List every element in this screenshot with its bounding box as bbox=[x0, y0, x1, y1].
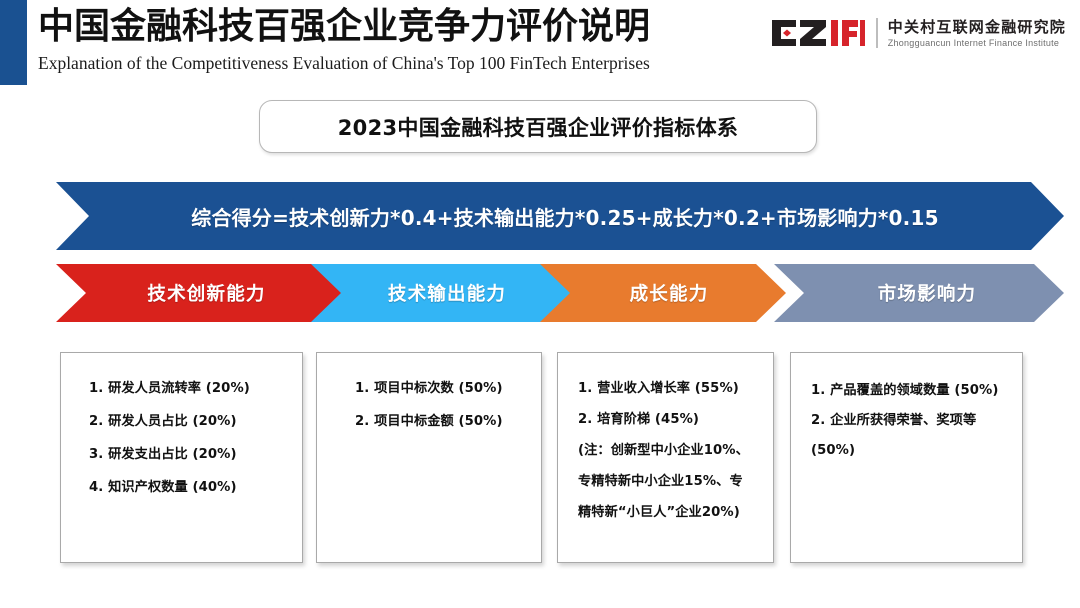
indicator-list-0: 1. 研发人员流转率 (20%)2. 研发人员占比 (20%)3. 研发支出占比… bbox=[73, 381, 290, 496]
czifi-logo-icon bbox=[770, 18, 866, 48]
indicator-item: 4. 知识产权数量 (40%) bbox=[89, 480, 290, 496]
indicator-item: 精特新“小巨人”企业20%) bbox=[578, 505, 761, 521]
indicator-card-market-influence: 1. 产品覆盖的领域数量 (50%)2. 企业所获得荣誉、奖项等(50%) bbox=[790, 352, 1023, 563]
indicator-card-row: 1. 研发人员流转率 (20%)2. 研发人员占比 (20%)3. 研发支出占比… bbox=[0, 352, 1080, 568]
index-system-title-box: 2023中国金融科技百强企业评价指标体系 bbox=[259, 100, 817, 153]
indicator-list-2: 1. 营业收入增长率 (55%)2. 培育阶梯 (45%)(注：创新型中小企业1… bbox=[570, 381, 761, 521]
indicator-item: 1. 研发人员流转率 (20%) bbox=[89, 381, 290, 397]
indicator-item: 1. 产品覆盖的领域数量 (50%) bbox=[811, 381, 1010, 401]
formula-chevron-shape: 综合得分=技术创新力*0.4+技术输出能力*0.25+成长力*0.2+市场影响力… bbox=[56, 182, 1064, 250]
arrow-label-0: 技术创新能力 bbox=[131, 280, 265, 306]
logo-name-en: Zhongguancun Internet Finance Institute bbox=[888, 37, 1066, 49]
indicator-item: (50%) bbox=[811, 441, 1010, 461]
arrow-technology-innovation: 技术创新能力 bbox=[56, 264, 341, 322]
indicator-item: 2. 企业所获得荣誉、奖项等 bbox=[811, 411, 1010, 431]
arrow-label-1: 技术输出能力 bbox=[372, 280, 506, 306]
indicator-item: 2. 培育阶梯 (45%) bbox=[578, 412, 761, 428]
institute-logo: 中关村互联网金融研究院 Zhongguancun Internet Financ… bbox=[770, 12, 1066, 54]
formula-text: 综合得分=技术创新力*0.4+技术输出能力*0.25+成长力*0.2+市场影响力… bbox=[181, 202, 938, 231]
slide-header: 中国金融科技百强企业竞争力评价说明 Explanation of the Com… bbox=[0, 0, 1080, 88]
indicator-card-technology-output: 1. 项目中标次数 (50%)2. 项目中标金额 (50%) bbox=[316, 352, 542, 563]
logo-name-cn: 中关村互联网金融研究院 bbox=[888, 18, 1066, 36]
indicator-item: (注：创新型中小企业10%、 bbox=[578, 443, 761, 459]
logo-divider bbox=[876, 18, 878, 48]
index-system-title: 2023中国金融科技百强企业评价指标体系 bbox=[338, 112, 738, 142]
logo-wordmark: 中关村互联网金融研究院 Zhongguancun Internet Financ… bbox=[888, 18, 1066, 49]
header-accent-bar bbox=[0, 0, 27, 85]
indicator-item: 1. 项目中标次数 (50%) bbox=[355, 381, 529, 397]
indicator-item: 专精特新中小企业15%、专 bbox=[578, 474, 761, 490]
slide-root: 中国金融科技百强企业竞争力评价说明 Explanation of the Com… bbox=[0, 0, 1080, 608]
arrow-label-3: 市场影响力 bbox=[862, 280, 977, 306]
page-subtitle-english: Explanation of the Competitiveness Evalu… bbox=[38, 51, 650, 75]
page-title: 中国金融科技百强企业竞争力评价说明 bbox=[38, 4, 650, 50]
arrow-growth-capability: 成长能力 bbox=[536, 264, 786, 322]
indicator-item: 3. 研发支出占比 (20%) bbox=[89, 447, 290, 463]
dimension-arrow-row: 技术创新能力 技术输出能力 成长能力 市场影响力 bbox=[56, 264, 1064, 322]
indicator-card-growth-capability: 1. 营业收入增长率 (55%)2. 培育阶梯 (45%)(注：创新型中小企业1… bbox=[557, 352, 774, 563]
arrow-market-influence: 市场影响力 bbox=[774, 264, 1064, 322]
score-formula-banner: 综合得分=技术创新力*0.4+技术输出能力*0.25+成长力*0.2+市场影响力… bbox=[56, 182, 1064, 250]
arrow-technology-output: 技术输出能力 bbox=[308, 264, 570, 322]
indicator-item: 1. 营业收入增长率 (55%) bbox=[578, 381, 761, 397]
indicator-item: 2. 研发人员占比 (20%) bbox=[89, 414, 290, 430]
arrow-label-2: 成长能力 bbox=[614, 280, 709, 306]
indicator-list-1: 1. 项目中标次数 (50%)2. 项目中标金额 (50%) bbox=[329, 381, 529, 430]
header-text-block: 中国金融科技百强企业竞争力评价说明 Explanation of the Com… bbox=[38, 4, 650, 75]
indicator-card-technology-innovation: 1. 研发人员流转率 (20%)2. 研发人员占比 (20%)3. 研发支出占比… bbox=[60, 352, 303, 563]
indicator-item: 2. 项目中标金额 (50%) bbox=[355, 414, 529, 430]
indicator-list-3: 1. 产品覆盖的领域数量 (50%)2. 企业所获得荣誉、奖项等(50%) bbox=[803, 381, 1010, 461]
